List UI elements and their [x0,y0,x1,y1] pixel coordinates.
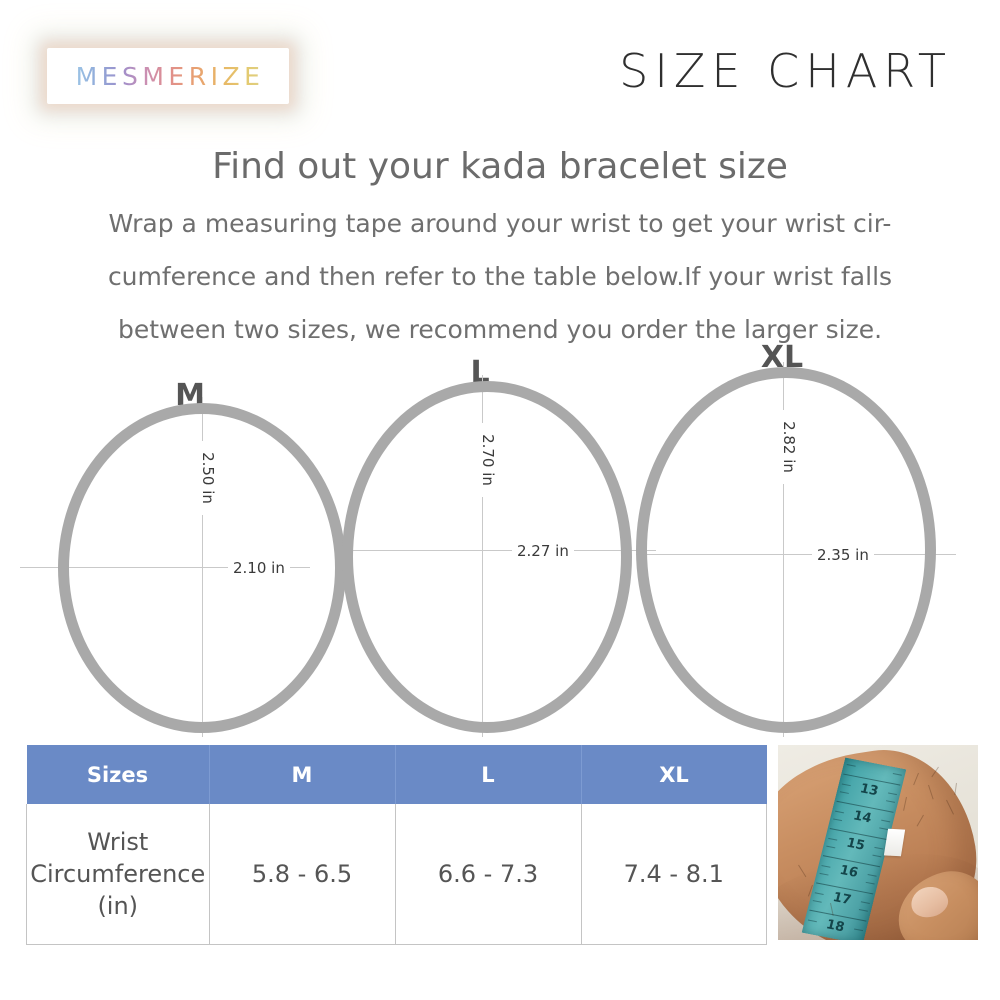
table-cell-m: 5.8 - 6.5 [209,804,395,945]
tape-number-16: 16 [817,859,881,885]
brand-logo: MESMERIZE [47,48,289,104]
bracelet-diagram-m: M 2.50 in 2.10 in [0,345,340,740]
row-label-line-3: (in) [97,892,138,920]
intro-line-2: cumference and then refer to the table b… [46,250,954,303]
intro-heading: Find out your kada bracelet size [0,145,1000,189]
table-header-row: Sizes M L XL [27,745,767,804]
bracelet-diagrams: M 2.50 in 2.10 in L 2.70 in 2.27 in XL 2… [0,345,1000,740]
oval-height-label-l: 2.70 in [478,423,498,497]
table-cell-xl: 7.4 - 8.1 [581,804,767,945]
tape-number-13: 13 [837,777,901,803]
oval-width-label-l: 2.27 in [512,541,574,561]
table-row: Wrist Circumference (in) 5.8 - 6.5 6.6 -… [27,804,767,945]
table-header-m: M [209,745,395,804]
size-table: Sizes M L XL Wrist Circumference (in) 5.… [26,745,767,945]
intro-line-1: Wrap a measuring tape around your wrist … [46,197,954,250]
intro-paragraph: Wrap a measuring tape around your wrist … [0,197,1000,356]
table-cell-l: 6.6 - 7.3 [395,804,581,945]
table-header-l: L [395,745,581,804]
table-header-sizes: Sizes [27,745,210,804]
table-header-xl: XL [581,745,767,804]
tape-number-17: 17 [810,886,874,912]
row-label-line-2: Circumference [30,860,205,888]
bracelet-diagram-xl: XL 2.82 in 2.35 in [620,345,1000,740]
row-label-line-1: Wrist [87,828,148,856]
oval-width-label-xl: 2.35 in [812,545,874,565]
oval-height-label-xl: 2.82 in [779,410,799,484]
intro-block: Find out your kada bracelet size Wrap a … [0,145,1000,356]
tape-number-15: 15 [823,831,887,857]
wrist-measuring-photo: 13 14 15 16 17 18 [778,745,978,940]
oval-width-label-m: 2.10 in [228,558,290,578]
oval-height-label-m: 2.50 in [198,441,218,515]
page-title: SIZE CHART [619,44,952,98]
tape-number-14: 14 [830,804,894,830]
table-row-label: Wrist Circumference (in) [27,804,210,945]
brand-wordmark: MESMERIZE [72,62,265,91]
